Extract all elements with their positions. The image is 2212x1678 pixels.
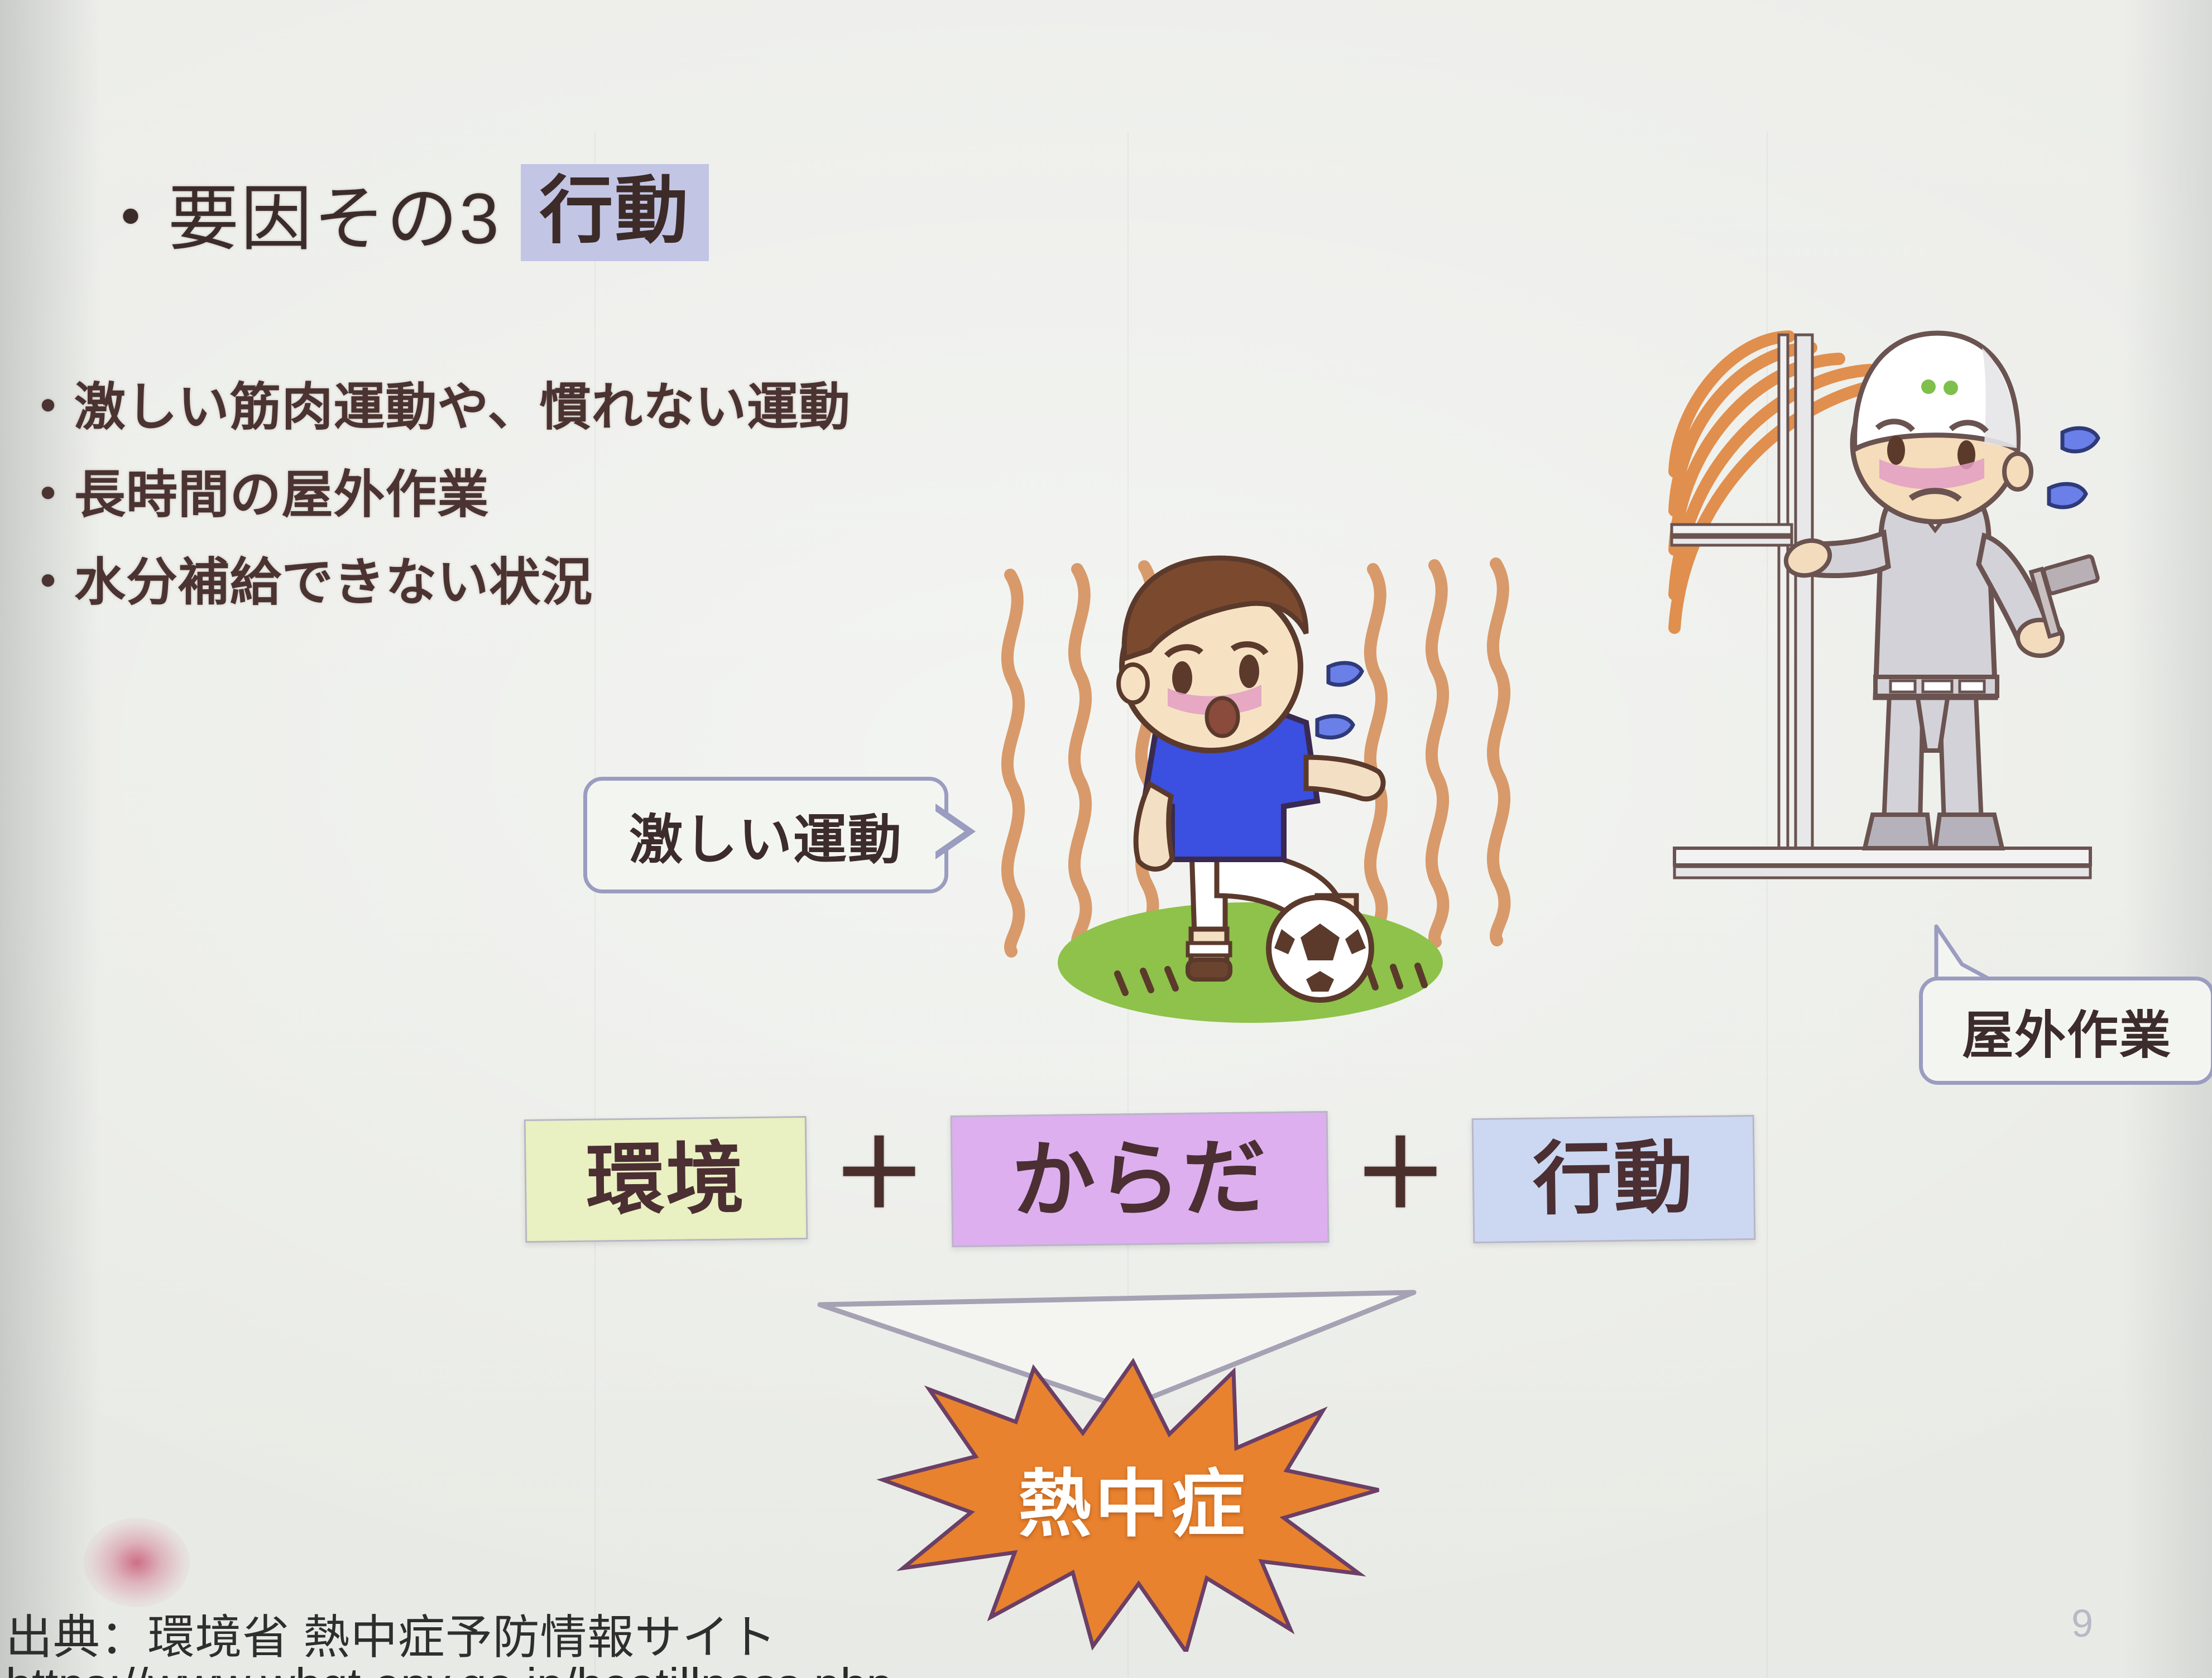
- formula-term-environment: 環境: [524, 1116, 808, 1242]
- formula-operator: ＋: [807, 1127, 951, 1222]
- eye-left: [1887, 436, 1905, 465]
- callout-exercise: 激しい運動: [583, 777, 948, 893]
- scaffold-pole: [1796, 335, 1812, 871]
- sweat-drop-icon: [1317, 663, 1362, 738]
- left-arm: [1136, 784, 1172, 869]
- grass-patch: [1058, 902, 1443, 1023]
- section-heading-chip: 行動: [521, 164, 709, 261]
- sweat-drop-icon: [2049, 428, 2098, 507]
- eye-left: [1172, 661, 1192, 695]
- section-heading-chip-label: 行動: [540, 174, 690, 248]
- title-banner: 熱中症を引き起こす3つの要因: [0, 0, 2212, 132]
- left-edge-shadow: [0, 0, 100, 1678]
- list-item: ・激しい筋肉運動や、慣れない運動: [22, 366, 851, 440]
- mouth: [1207, 698, 1238, 736]
- section-heading: ・要因その3 行動: [95, 161, 709, 264]
- bullet-list: ・激しい筋肉運動や、慣れない運動 ・長時間の屋外作業 ・水分補給できない状況: [22, 366, 851, 615]
- slide-canvas: 熱中症を引き起こす3つの要因 ・要因その3 行動 ・激しい筋肉運動や、慣れない運…: [0, 0, 2212, 1678]
- formula-term-behavior-label: 行動: [1532, 1138, 1695, 1220]
- page-number: 9: [2071, 1601, 2093, 1646]
- callout-outdoor-work-label: 屋外作業: [1962, 994, 2171, 1068]
- ear: [1119, 665, 1148, 703]
- laser-pointer-dot: [84, 1518, 190, 1607]
- list-item: ・水分補給できない状況: [22, 541, 851, 615]
- construction-worker-illustration: [1649, 304, 2212, 896]
- scaffold-pole: [1779, 335, 1788, 871]
- ear: [2004, 454, 2031, 489]
- callout-exercise-label: 激しい運動: [629, 796, 903, 874]
- helmet-dot: [1921, 379, 1936, 394]
- projector-seam: [594, 132, 596, 1678]
- formula-operator: ＋: [1328, 1127, 1472, 1222]
- callout-outdoor-work: 屋外作業: [1919, 977, 2212, 1085]
- page-title: 熱中症を引き起こす3つの要因: [544, 7, 1668, 120]
- boy-playing-soccer-illustration: [971, 539, 1524, 1057]
- shoe: [1188, 960, 1230, 979]
- formula-term-environment-label: 環境: [586, 1139, 746, 1219]
- callout-exercise-pointer-fill: [933, 810, 965, 853]
- boots: [1865, 815, 2002, 848]
- scaffold-platform: [1674, 848, 2090, 865]
- section-heading-lead: ・要因その3: [95, 161, 501, 264]
- scaffold-bar: [1672, 525, 1792, 535]
- source-url: https://www.wbgt.env.go.jp/heatillness.p…: [6, 1658, 893, 1678]
- scaffold-bar: [1672, 537, 1792, 545]
- formula-row: 環境 ＋ からだ ＋ 行動: [525, 1113, 1755, 1245]
- result-burst: [876, 1350, 1390, 1652]
- eye-right: [1239, 655, 1259, 688]
- list-item: ・長時間の屋外作業: [22, 453, 851, 527]
- source-citation: 出典：環境省 熱中症予防情報サイト: [6, 1600, 777, 1667]
- formula-term-body: からだ: [951, 1111, 1330, 1247]
- helmet-dot: [1944, 381, 1958, 395]
- formula-term-body-label: からだ: [1011, 1136, 1269, 1223]
- formula-term-behavior: 行動: [1472, 1115, 1756, 1243]
